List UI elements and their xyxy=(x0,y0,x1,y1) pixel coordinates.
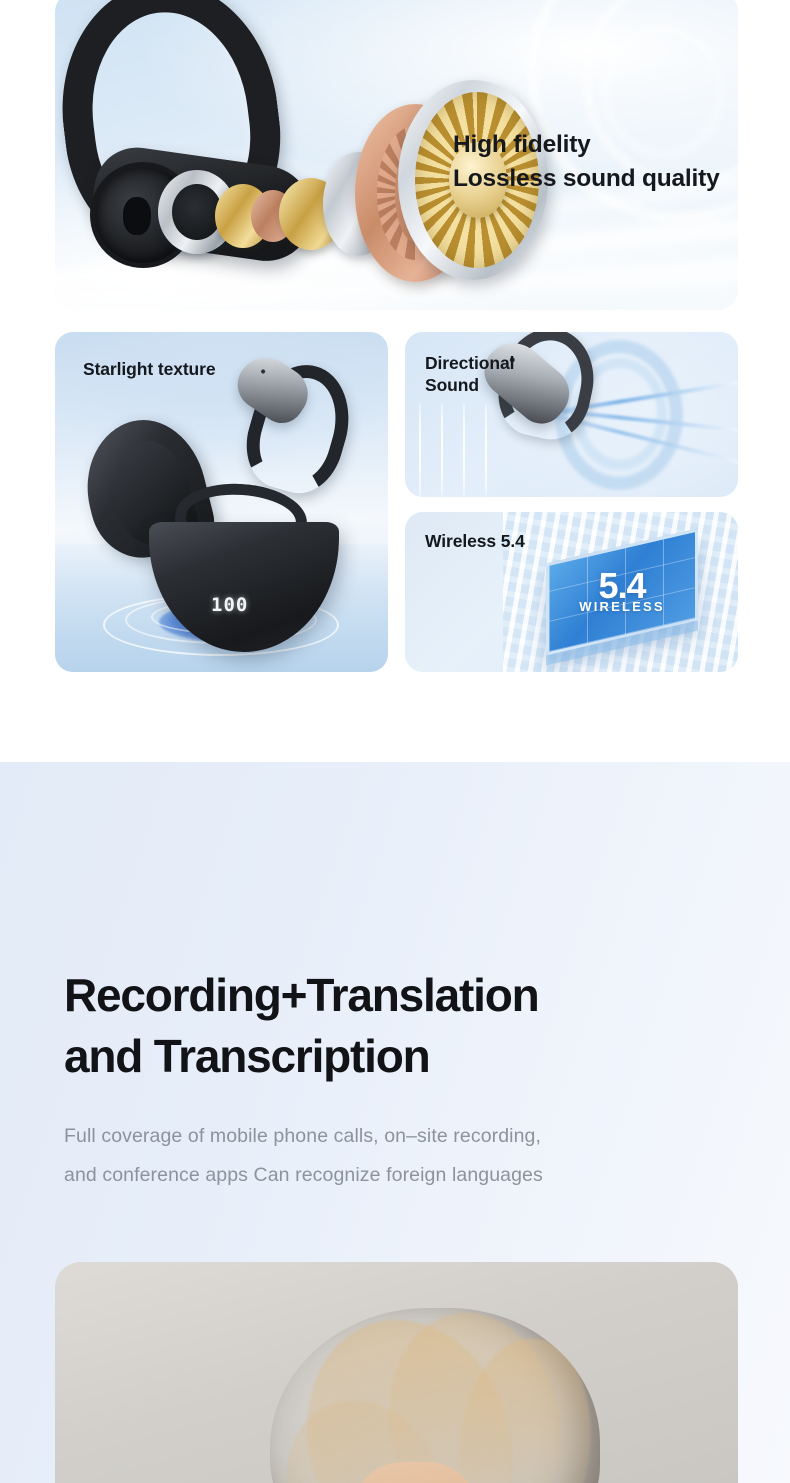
directional-card-label: Directional Sound xyxy=(425,352,514,396)
features-section: High fidelity Lossless sound quality 100 xyxy=(0,0,790,762)
directional-label-line2: Sound xyxy=(425,374,514,396)
recording-translation-section: Recording+Translation and Transcription … xyxy=(0,762,790,1483)
feature-card-wireless[interactable]: 5.4 WIRELESS Wireless 5.4 xyxy=(405,512,738,672)
hero-label-line1: High fidelity xyxy=(453,128,720,162)
headline-line1: Recording+Translation xyxy=(64,965,724,1026)
subhead-line1: Full coverage of mobile phone calls, on–… xyxy=(64,1117,744,1156)
hero-label-line2: Lossless sound quality xyxy=(453,162,720,196)
chip-label-group: 5.4 WIRELESS xyxy=(546,546,698,638)
starlight-card-label: Starlight texture xyxy=(83,358,216,380)
hero-card-label: High fidelity Lossless sound quality xyxy=(453,128,720,197)
section-subheadline: Full coverage of mobile phone calls, on–… xyxy=(64,1117,744,1194)
chip-wireless-text: WIRELESS xyxy=(579,599,665,614)
feature-card-high-fidelity[interactable]: High fidelity Lossless sound quality xyxy=(55,0,738,310)
product-detail-page: High fidelity Lossless sound quality 100 xyxy=(0,0,790,1483)
bluetooth-chip-image: 5.4 WIRELESS xyxy=(546,528,698,655)
subhead-line2: and conference apps Can recognize foreig… xyxy=(64,1156,744,1195)
feature-card-starlight-texture[interactable]: 100 Starlight texture xyxy=(55,332,388,672)
lifestyle-photo-card[interactable] xyxy=(55,1262,738,1483)
battery-level-display: 100 xyxy=(211,594,248,616)
headline-line2: and Transcription xyxy=(64,1026,724,1087)
feature-card-directional-sound[interactable]: Directional Sound xyxy=(405,332,738,497)
directional-label-line1: Directional xyxy=(425,352,514,374)
section-headline: Recording+Translation and Transcription xyxy=(64,965,724,1086)
wireless-card-label: Wireless 5.4 xyxy=(425,530,525,552)
